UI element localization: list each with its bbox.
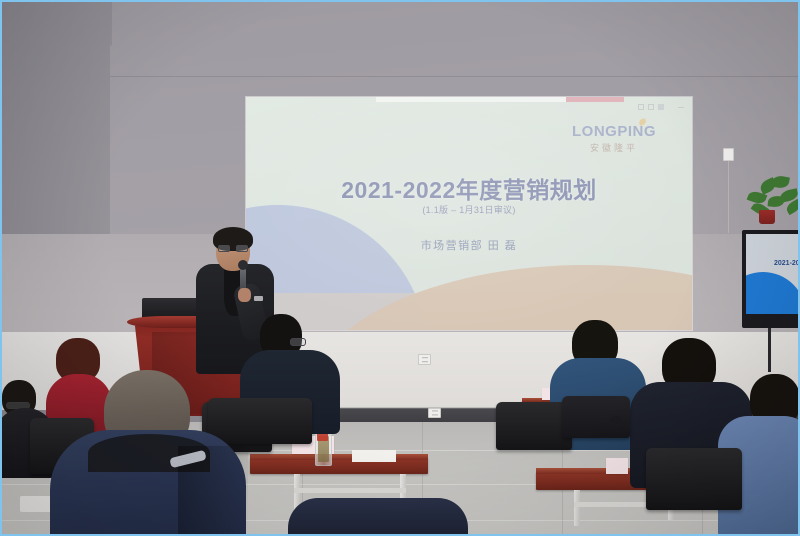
chair-center bbox=[208, 398, 312, 444]
projection-screen: LONGPING 安徽隆平 2021-2022年度营销规划 (1.1版 – 1月… bbox=[246, 97, 692, 330]
slide-window-titlebar bbox=[376, 97, 566, 102]
wall-outlet-2 bbox=[428, 408, 441, 418]
sensor-cable bbox=[728, 161, 729, 233]
conference-room-photo: LONGPING 安徽隆平 2021-2022年度营销规划 (1.1版 – 1月… bbox=[0, 0, 800, 536]
microphone-head bbox=[238, 260, 248, 270]
desk-row-center bbox=[250, 458, 428, 474]
presenter-hand bbox=[238, 288, 251, 302]
close-icon[interactable] bbox=[658, 104, 664, 110]
wall-sensor-icon bbox=[723, 148, 734, 161]
jacket-logo bbox=[254, 296, 263, 301]
tv-slide-text: 2021-20 bbox=[774, 260, 800, 267]
logo-chinese-name: 安徽隆平 bbox=[572, 141, 656, 154]
desk-crossbar-center bbox=[294, 488, 406, 493]
glasses-icon bbox=[218, 245, 248, 252]
paper-center bbox=[352, 450, 396, 462]
tv-slide-blue-shape bbox=[746, 272, 800, 314]
chair-knob bbox=[610, 416, 622, 428]
window-dropdown-icon[interactable] bbox=[678, 107, 684, 108]
ceiling-seam bbox=[102, 76, 800, 77]
tv-stand-pole bbox=[768, 328, 771, 372]
slide-title: 2021-2022年度营销规划 bbox=[246, 171, 692, 205]
company-logo: LONGPING 安徽隆平 bbox=[572, 123, 656, 154]
slide-titlebar-accent bbox=[566, 97, 624, 102]
paper-right bbox=[606, 458, 628, 474]
minimize-icon[interactable] bbox=[638, 104, 644, 110]
window-controls[interactable] bbox=[638, 104, 664, 110]
logo-wordmark: LONGPING bbox=[572, 123, 656, 140]
slide-subtitle: (1.1版 – 1月31日审议) bbox=[246, 203, 692, 216]
chair-front-right bbox=[646, 448, 742, 510]
desk-edge-center bbox=[250, 454, 428, 460]
plant-pot bbox=[759, 210, 775, 224]
attendee-4-glasses-icon bbox=[290, 338, 306, 346]
chair-mid-right bbox=[496, 402, 572, 450]
desk-leg-right-1 bbox=[574, 490, 580, 526]
tv-display: 2021-20 bbox=[746, 234, 800, 314]
slide-author: 市场营销部 田 磊 bbox=[246, 237, 692, 253]
slide-canvas: LONGPING 安徽隆平 2021-2022年度营销规划 (1.1版 – 1月… bbox=[246, 97, 692, 330]
wall-outlet-1 bbox=[418, 354, 431, 365]
attendee-front-right-shoulder bbox=[288, 498, 468, 536]
maximize-icon[interactable] bbox=[648, 104, 654, 110]
wall-mounted-tv: 2021-20 bbox=[742, 230, 800, 328]
